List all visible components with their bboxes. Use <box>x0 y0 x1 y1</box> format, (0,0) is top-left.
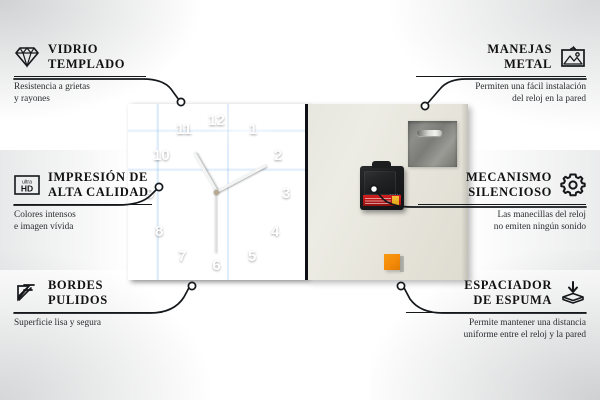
clock-numeral-2: 2 <box>274 148 282 163</box>
product-composite: 12 1 2 3 4 5 6 7 8 9 10 11 <box>128 104 468 280</box>
infographic-canvas: 12 1 2 3 4 5 6 7 8 9 10 11 <box>0 0 600 400</box>
callout-vidrio-templado[interactable]: VIDRIOTEMPLADO Resistencia a grietasy ra… <box>14 42 146 106</box>
quartz-movement <box>360 166 404 210</box>
clock-second-hand <box>216 192 217 254</box>
callout-espaciador-espuma[interactable]: ESPACIADORDE ESPUMA Permite mantener una… <box>406 278 586 342</box>
callout-header: MECANISMOSILENCIOSO <box>418 170 586 200</box>
callout-impresion-alta-calidad[interactable]: ultra HD IMPRESIÓN DEALTA CALIDAD Colore… <box>14 170 152 234</box>
callout-header: MANEJASMETAL <box>416 42 586 72</box>
clock-numeral-12: 12 <box>208 113 225 128</box>
movement-housing <box>364 171 396 195</box>
callout-header: BORDESPULIDOS <box>14 278 162 308</box>
movement-sticker <box>363 195 401 206</box>
callout-title: VIDRIOTEMPLADO <box>48 42 125 72</box>
callout-header: ESPACIADORDE ESPUMA <box>406 278 586 308</box>
callout-divider <box>14 312 162 314</box>
clock-numeral-6: 6 <box>212 258 220 273</box>
callout-divider <box>14 76 146 78</box>
callout-header: VIDRIOTEMPLADO <box>14 42 146 72</box>
movement-hanger-tab <box>372 161 391 168</box>
picture-frame-icon <box>560 44 586 70</box>
clock-numeral-8: 8 <box>155 224 163 239</box>
callout-divider <box>406 312 586 314</box>
callout-description: Las manecillas del relojno emiten ningún… <box>418 209 586 234</box>
callout-description: Colores intensose imagen vívida <box>14 209 152 234</box>
callout-divider <box>14 204 152 206</box>
gear-icon <box>560 172 586 198</box>
wire-dot-bordes-pulidos <box>188 282 195 289</box>
callout-title: BORDESPULIDOS <box>48 278 108 308</box>
clock-front-panel: 12 1 2 3 4 5 6 7 8 9 10 11 <box>128 104 308 280</box>
clock-numeral-10: 10 <box>153 148 170 163</box>
clock-numeral-11: 11 <box>176 122 192 137</box>
wire-dot-espaciador <box>397 282 404 289</box>
callout-header: ultra HD IMPRESIÓN DEALTA CALIDAD <box>14 170 152 200</box>
clock-numeral-1: 1 <box>249 122 257 137</box>
metal-hanger-plate <box>408 121 457 167</box>
clock-numeral-7: 7 <box>178 249 186 264</box>
callout-manejas-metal[interactable]: MANEJASMETAL Permiten una fácil instalac… <box>416 42 586 106</box>
callout-description: Permite mantener una distanciauniforme e… <box>406 317 586 342</box>
clock-numeral-5: 5 <box>248 249 256 264</box>
movement-sticker-text <box>365 197 391 204</box>
callout-description: Superficie lisa y segura <box>14 317 162 329</box>
clock-numeral-3: 3 <box>282 186 290 201</box>
movement-sticker-badge <box>392 196 399 205</box>
callout-description: Permiten una fácil instalacióndel reloj … <box>416 81 586 106</box>
hanger-keyhole-slot <box>417 130 442 136</box>
callout-bordes-pulidos[interactable]: BORDESPULIDOS Superficie lisa y segura <box>14 278 162 329</box>
callout-title: ESPACIADORDE ESPUMA <box>464 278 552 308</box>
callout-title: IMPRESIÓN DEALTA CALIDAD <box>48 170 149 200</box>
ultra-hd-icon: ultra HD <box>14 172 40 198</box>
foam-spacer <box>384 254 400 270</box>
clock-numeral-4: 4 <box>271 224 279 239</box>
callout-description: Resistencia a grietasy rayones <box>14 81 146 106</box>
clock-center-hub <box>214 190 219 195</box>
callout-divider <box>418 204 586 206</box>
callout-divider <box>416 76 586 78</box>
polished-edges-icon <box>14 280 40 306</box>
diamond-icon <box>14 44 40 70</box>
foam-spacer-icon <box>560 280 586 306</box>
callout-title: MECANISMOSILENCIOSO <box>466 170 552 200</box>
callout-mecanismo-silencioso[interactable]: MECANISMOSILENCIOSO Las manecillas del r… <box>418 170 586 234</box>
callout-title: MANEJASMETAL <box>487 42 552 72</box>
svg-text:HD: HD <box>21 183 33 193</box>
